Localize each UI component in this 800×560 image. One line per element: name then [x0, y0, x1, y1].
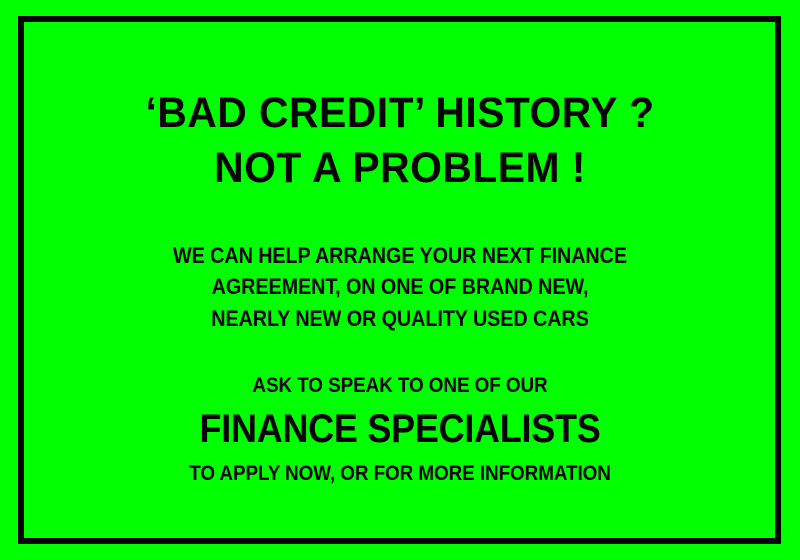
- cta-footer: TO APPLY NOW, OR FOR MORE INFORMATION: [40, 460, 760, 487]
- body-text-block: WE CAN HELP ARRANGE YOUR NEXT FINANCE AG…: [0, 240, 800, 334]
- advertisement-poster: ‘BAD CREDIT’ HISTORY ? NOT A PROBLEM ! W…: [0, 0, 800, 560]
- cta-prompt: ASK TO SPEAK TO ONE OF OUR: [40, 372, 760, 399]
- body-line-1: WE CAN HELP ARRANGE YOUR NEXT FINANCE: [40, 240, 760, 271]
- headline-block: ‘BAD CREDIT’ HISTORY ? NOT A PROBLEM !: [0, 86, 800, 196]
- headline-line-2: NOT A PROBLEM !: [20, 141, 780, 196]
- poster-content: ‘BAD CREDIT’ HISTORY ? NOT A PROBLEM ! W…: [0, 0, 800, 560]
- body-line-3: NEARLY NEW OR QUALITY USED CARS: [40, 303, 760, 334]
- body-line-2: AGREEMENT, ON ONE OF BRAND NEW,: [40, 271, 760, 302]
- headline-line-1: ‘BAD CREDIT’ HISTORY ?: [20, 86, 780, 141]
- cta-title: FINANCE SPECIALISTS: [40, 403, 760, 456]
- call-to-action-block: ASK TO SPEAK TO ONE OF OUR FINANCE SPECI…: [0, 372, 800, 487]
